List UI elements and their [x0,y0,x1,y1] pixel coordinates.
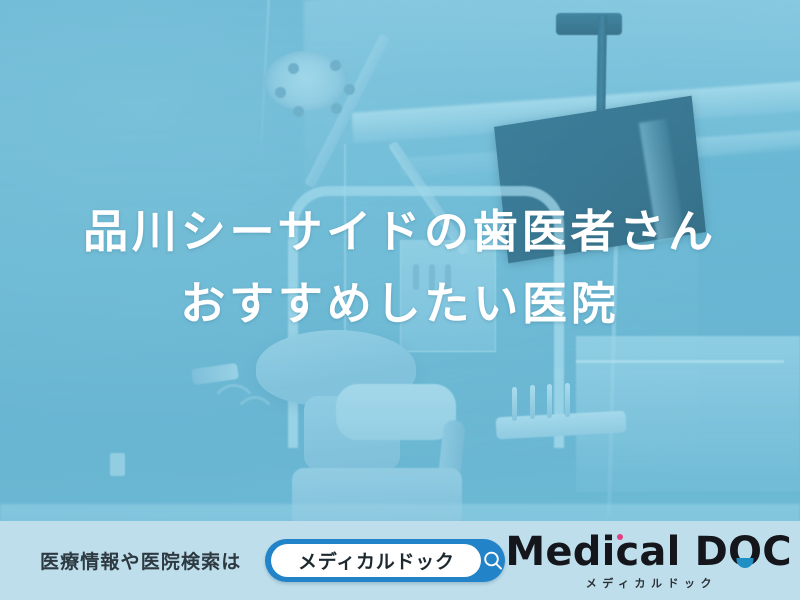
logo-wordmark: Medical DOC [505,532,791,572]
logo-accent-dot-icon [617,534,623,540]
logo-text-space [681,529,695,575]
headline-line-2: おすすめしたい医院 [0,268,800,340]
footer-lead-text: 医療情報や医院検索は [40,547,241,574]
headline-line-1: 品川シーサイドの歯医者さん [0,196,800,268]
logo-text-o: O [728,529,762,575]
banner-headline: 品川シーサイドの歯医者さん おすすめしたい医院 [0,196,800,340]
search-input[interactable]: メディカルドック [271,544,481,577]
search-box[interactable]: メディカルドック [265,539,505,582]
logo-letter-o-capsule: O [728,532,762,572]
logo-text-d: D [695,529,728,575]
logo-text-medical: Medical [505,529,680,575]
logo-text-c: C [762,529,792,575]
search-icon [481,549,505,573]
medical-doc-logo[interactable]: Medical DOC メディカルドック [505,532,791,590]
footer-bar: 医療情報や医院検索は メディカルドック Medical DOC メディカルドック [0,521,800,600]
article-thumbnail-banner: 品川シーサイドの歯医者さん おすすめしたい医院 医療情報や医院検索は メディカル… [0,0,800,600]
search-button[interactable] [481,539,505,582]
logo-subtitle: メディカルドック [505,579,791,590]
